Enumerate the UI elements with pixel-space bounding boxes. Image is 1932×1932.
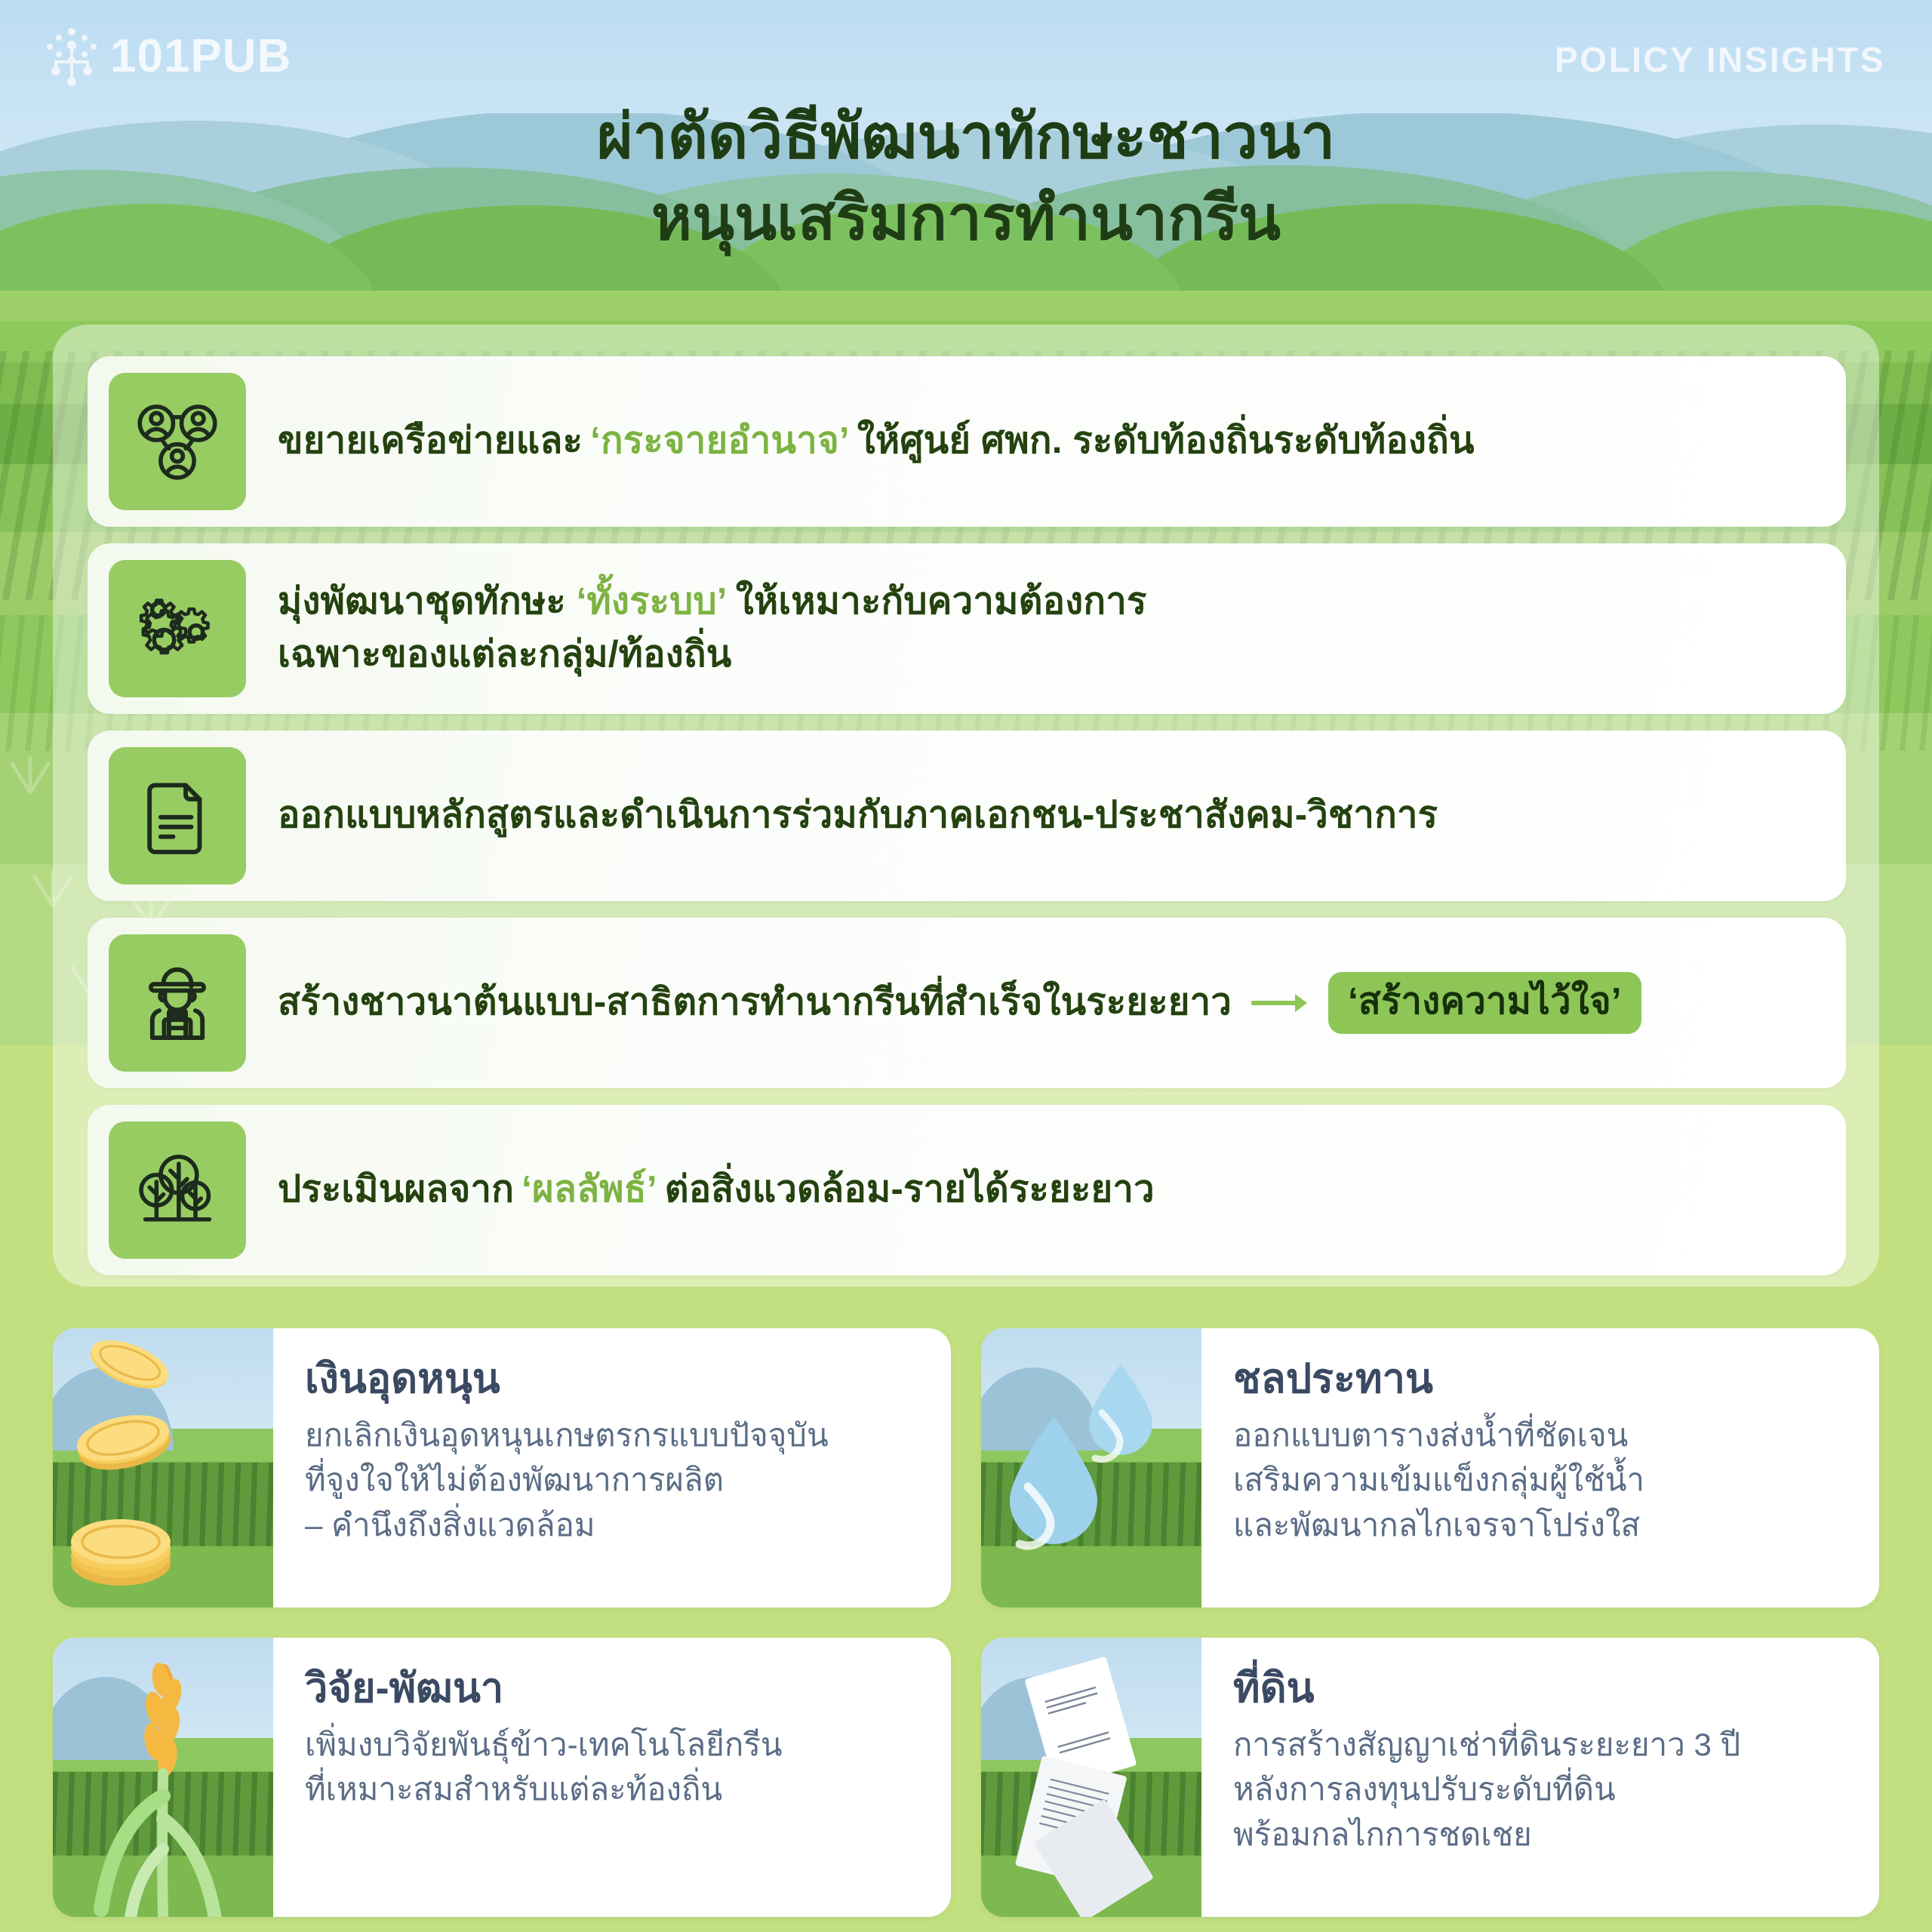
gold-coins-icon bbox=[53, 1328, 273, 1607]
card-desc-land: การสร้างสัญญาเช่าที่ดินระยะยาว 3 ปี หลัง… bbox=[1233, 1722, 1850, 1857]
row-icon-tile-3 bbox=[109, 747, 246, 884]
section-label: POLICY INSIGHTS bbox=[1555, 39, 1885, 80]
card-desc-subsidy: ยกเลิกเงินอุดหนุนเกษตรกรแบบปัจจุบัน ที่จ… bbox=[305, 1413, 922, 1548]
card-title-irrigation: ชลประทาน bbox=[1233, 1354, 1850, 1405]
card-title-research: วิจัย-พัฒนา bbox=[305, 1663, 922, 1715]
recommendation-row-4[interactable]: สร้างชาวนาต้นแบบ-สาธิตการทำนากรีนที่สำเร… bbox=[88, 918, 1846, 1088]
card2-line-1: เพิ่มงบวิจัยพันธุ์ข้าว-เทคโนโลยีกรีน bbox=[305, 1722, 922, 1767]
policy-cards-grid: เงินอุดหนุน ยกเลิกเงินอุดหนุนเกษตรกรแบบป… bbox=[53, 1328, 1879, 1917]
card1-line-1: ออกแบบตารางส่งน้ำที่ชัดเจน bbox=[1233, 1413, 1850, 1458]
recommendation-text-5: ประเมินผลจาก ‘ผลลัพธ์’ ต่อสิ่งแวดล้อม-รา… bbox=[246, 1164, 1825, 1217]
card-image-research bbox=[53, 1638, 273, 1917]
row-icon-tile-1 bbox=[109, 373, 246, 510]
recommendation-row-1[interactable]: ขยายเครือข่ายและ ‘กระจายอำนาจ’ ให้ศูนย์ … bbox=[88, 356, 1846, 527]
farmer-icon bbox=[133, 958, 222, 1048]
rec2-seg1: มุ่งพัฒนาชุดทักษะ bbox=[278, 581, 577, 622]
card-title-land: ที่ดิน bbox=[1233, 1663, 1850, 1715]
card2-line-2: ที่เหมาะสมสำหรับแต่ละท้องถิ่น bbox=[305, 1767, 922, 1812]
rec5-seg1: ประเมินผลจาก bbox=[278, 1164, 514, 1217]
rec1-highlight: ‘กระจายอำนาจ’ bbox=[590, 415, 850, 468]
recommendation-row-5[interactable]: ประเมินผลจาก ‘ผลลัพธ์’ ต่อสิ่งแวดล้อม-รา… bbox=[88, 1105, 1846, 1275]
policy-card-irrigation[interactable]: ชลประทาน ออกแบบตารางส่งน้ำที่ชัดเจน เสริ… bbox=[981, 1328, 1879, 1607]
rec2-line-2: เฉพาะของแต่ละกลุ่ม/ท้องถิ่น bbox=[278, 629, 1825, 681]
card1-line-3: และพัฒนากลไกเจรจาโปร่งใส bbox=[1233, 1503, 1850, 1548]
infographic-poster: 101PUB POLICY INSIGHTS ผ่าตัดวิธีพัฒนาทั… bbox=[0, 0, 1932, 1932]
rec2-seg3: ให้เหมาะกับความต้องการ bbox=[726, 581, 1146, 622]
policy-card-research[interactable]: วิจัย-พัฒนา เพิ่มงบวิจัยพันธุ์ข้าว-เทคโน… bbox=[53, 1638, 951, 1917]
card0-line-1: ยกเลิกเงินอุดหนุนเกษตรกรแบบปัจจุบัน bbox=[305, 1413, 922, 1458]
card1-line-2: เสริมความเข้มแข็งกลุ่มผู้ใช้น้ำ bbox=[1233, 1457, 1850, 1503]
card3-line-1: การสร้างสัญญาเช่าที่ดินระยะยาว 3 ปี bbox=[1233, 1722, 1850, 1767]
brand-logo[interactable]: 101PUB bbox=[44, 27, 291, 86]
recommendation-row-2[interactable]: มุ่งพัฒนาชุดทักษะ ‘ทั้งระบบ’ ให้เหมาะกับ… bbox=[88, 543, 1846, 714]
page-title: ผ่าตัดวิธีพัฒนาทักษะชาวนา หนุนเสริมการทำ… bbox=[0, 97, 1932, 260]
water-drops-icon bbox=[981, 1328, 1201, 1607]
page-title-line-1: ผ่าตัดวิธีพัฒนาทักษะชาวนา bbox=[597, 103, 1336, 171]
card-image-land bbox=[981, 1638, 1201, 1917]
land-documents-icon bbox=[981, 1638, 1201, 1917]
card-image-subsidy bbox=[53, 1328, 273, 1607]
rec1-seg1: ขยายเครือข่ายและ bbox=[278, 415, 583, 468]
card-desc-irrigation: ออกแบบตารางส่งน้ำที่ชัดเจน เสริมความเข้ม… bbox=[1233, 1413, 1850, 1548]
card-body-research: วิจัย-พัฒนา เพิ่มงบวิจัยพันธุ์ข้าว-เทคโน… bbox=[273, 1638, 951, 1917]
policy-card-subsidy[interactable]: เงินอุดหนุน ยกเลิกเงินอุดหนุนเกษตรกรแบบป… bbox=[53, 1328, 951, 1607]
rice-stalk-icon bbox=[53, 1638, 273, 1917]
card-desc-research: เพิ่มงบวิจัยพันธุ์ข้าว-เทคโนโลยีกรีน ที่… bbox=[305, 1722, 922, 1812]
card-image-irrigation bbox=[981, 1328, 1201, 1607]
rec2-line-1: มุ่งพัฒนาชุดทักษะ ‘ทั้งระบบ’ ให้เหมาะกับ… bbox=[278, 576, 1825, 629]
network-dots-logo-icon bbox=[44, 27, 100, 86]
trust-badge: ‘สร้างความไว้ใจ’ bbox=[1328, 972, 1641, 1035]
rec4-text: สร้างชาวนาต้นแบบ-สาธิตการทำนากรีนที่สำเร… bbox=[278, 977, 1232, 1029]
card0-line-2: ที่จูงใจให้ไม่ต้องพัฒนาการผลิต bbox=[305, 1457, 922, 1503]
recommendation-text-2: มุ่งพัฒนาชุดทักษะ ‘ทั้งระบบ’ ให้เหมาะกับ… bbox=[246, 576, 1825, 681]
brand-logo-text: 101PUB bbox=[110, 33, 291, 80]
rec5-highlight: ‘ผลลัพธ์’ bbox=[521, 1164, 657, 1217]
row-icon-tile-4 bbox=[109, 934, 246, 1072]
recommendations-list: ขยายเครือข่ายและ ‘กระจายอำนาจ’ ให้ศูนย์ … bbox=[88, 356, 1846, 1275]
card-body-land: ที่ดิน การสร้างสัญญาเช่าที่ดินระยะยาว 3 … bbox=[1201, 1638, 1879, 1917]
row-icon-tile-5 bbox=[109, 1121, 246, 1259]
page-title-line-2: หนุนเสริมการทำนากรีน bbox=[0, 178, 1932, 260]
recommendation-text-1: ขยายเครือข่ายและ ‘กระจายอำนาจ’ ให้ศูนย์ … bbox=[246, 415, 1825, 468]
rec2-highlight: ‘ทั้งระบบ’ bbox=[577, 581, 727, 622]
row-icon-tile-2 bbox=[109, 560, 246, 697]
trees-icon bbox=[133, 1146, 222, 1235]
card0-line-3: – คำนึงถึงสิ่งแวดล้อม bbox=[305, 1503, 922, 1548]
recommendation-row-3[interactable]: ออกแบบหลักสูตรและดำเนินการร่วมกับภาคเอกช… bbox=[88, 731, 1846, 901]
rec5-seg3: ต่อสิ่งแวดล้อม-รายได้ระยะยาว bbox=[665, 1164, 1155, 1217]
recommendation-text-3: ออกแบบหลักสูตรและดำเนินการร่วมกับภาคเอกช… bbox=[246, 789, 1825, 842]
card3-line-2: หลังการลงทุนปรับระดับที่ดิน bbox=[1233, 1767, 1850, 1812]
card-title-subsidy: เงินอุดหนุน bbox=[305, 1354, 922, 1405]
card-body-irrigation: ชลประทาน ออกแบบตารางส่งน้ำที่ชัดเจน เสริ… bbox=[1201, 1328, 1879, 1607]
card3-line-3: พร้อมกลไกการชดเชย bbox=[1233, 1812, 1850, 1857]
card-body-subsidy: เงินอุดหนุน ยกเลิกเงินอุดหนุนเกษตรกรแบบป… bbox=[273, 1328, 951, 1607]
document-icon bbox=[133, 771, 222, 860]
policy-card-land[interactable]: ที่ดิน การสร้างสัญญาเช่าที่ดินระยะยาว 3 … bbox=[981, 1638, 1879, 1917]
arrow-right-icon bbox=[1251, 990, 1310, 1016]
rec1-seg3: ให้ศูนย์ ศพก. ระดับท้องถิ่นระดับท้องถิ่น bbox=[857, 415, 1475, 468]
gears-icon bbox=[133, 584, 222, 673]
recommendation-text-4: สร้างชาวนาต้นแบบ-สาธิตการทำนากรีนที่สำเร… bbox=[246, 972, 1825, 1035]
people-network-icon bbox=[133, 397, 222, 486]
